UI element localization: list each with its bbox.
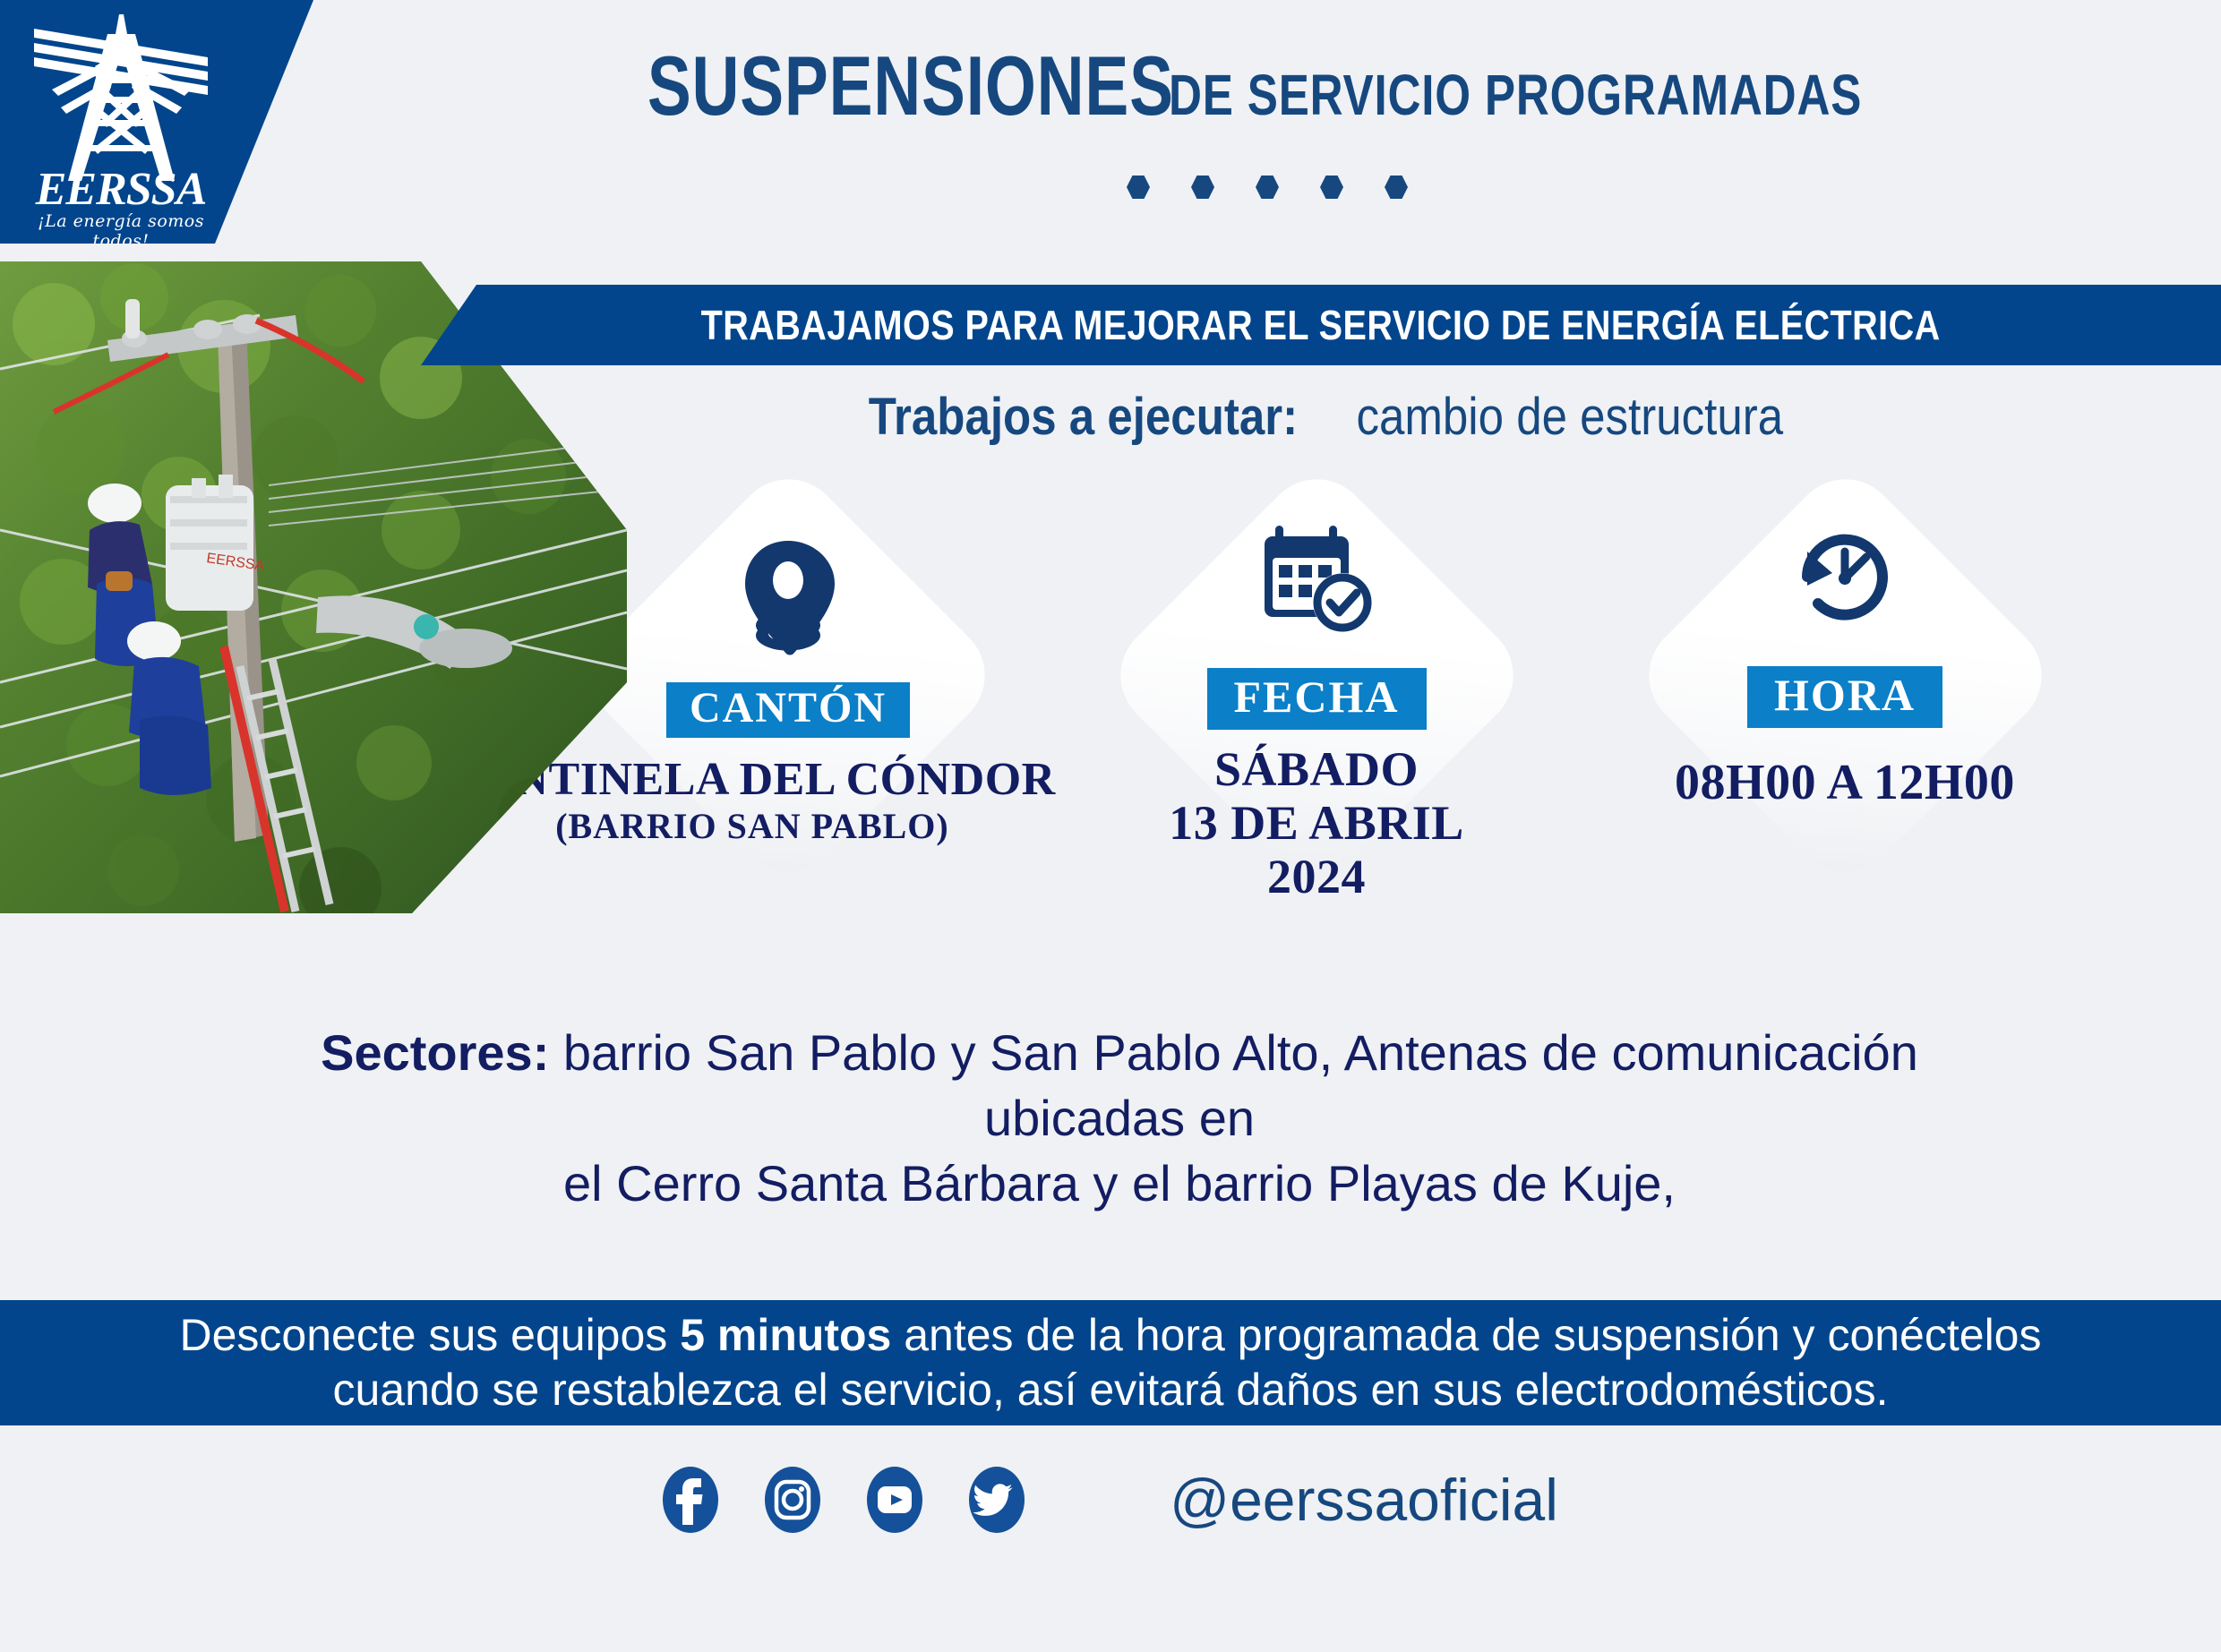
logo-panel: EERSSA ¡La energía somos todos! [0,0,313,244]
twitter-icon[interactable] [969,1466,1025,1534]
hexagon-dot-icon [1256,175,1279,199]
works-label: Trabajos a ejecutar: [868,387,1297,447]
notice-line-2: cuando se restablezca el servicio, así e… [332,1363,1888,1417]
notice-banner: Desconecte sus equipos 5 minutos antes d… [0,1300,2221,1425]
notice-text-c: antes de la hora programada de suspensió… [891,1310,2041,1360]
notice-highlight: 5 minutos [680,1310,891,1360]
eerssa-logo: EERSSA ¡La energía somos todos! [18,7,224,240]
fecha-day-month: 13 DE ABRIL [1169,796,1464,850]
hexagon-dot-icon [1127,175,1150,199]
title-subtitle: DE SERVICIO PROGRAMADAS [1169,62,1862,128]
card-badge-fecha: FECHA [1207,668,1427,730]
card-fecha: FECHA SÁBADO 13 DE ABRIL 2024 [1048,501,1585,1003]
canton-neighborhood: (BARRIO SAN PABLO) [412,807,1093,847]
hexagon-dot-icon [1385,175,1408,199]
calendar-check-icon [1254,518,1379,643]
card-badge-hora: HORA [1747,666,1942,728]
banner-text: TRABAJAMOS PARA MEJORAR EL SERVICIO DE E… [701,301,1941,349]
works-value: cambio de estructura [1356,387,1783,447]
social-bar: @eerssaoficial [0,1446,2221,1554]
notice-text-a: Desconecte sus equipos [180,1310,681,1360]
hexagon-dot-icon [1191,175,1214,199]
facebook-icon[interactable] [663,1466,718,1534]
hexagon-dot-icon [1320,175,1343,199]
card-hora: HORA 08H00 A 12H00 [1576,501,2114,1003]
banner-strip: TRABAJAMOS PARA MEJORAR EL SERVICIO DE E… [421,285,2221,365]
fecha-year: 2024 [1169,850,1464,903]
sectors-block: Sectores: barrio San Pablo y San Pablo A… [215,1021,2024,1216]
hora-range: 08H00 A 12H00 [1675,755,2015,811]
info-cards: CANTÓN CENTINELA DEL CÓNDOR (BARRIO SAN … [502,501,2221,1003]
logo-wordmark: EERSSA [18,167,224,213]
sectors-line2: el Cerro Santa Bárbara y el barrio Playa… [563,1155,1676,1211]
location-pin-icon [731,537,845,663]
page-title: SUSPENSIONESDE SERVICIO PROGRAMADAS [313,38,2221,134]
works-line: Trabajos a ejecutar: cambio de estructur… [537,387,2114,447]
instagram-icon[interactable] [765,1466,820,1534]
transmission-tower-icon [18,7,224,186]
youtube-icon[interactable] [867,1466,922,1534]
card-value-fecha: SÁBADO 13 DE ABRIL 2024 [1169,742,1464,904]
notice-line-1: Desconecte sus equipos 5 minutos antes d… [180,1308,2042,1363]
title-main: SUSPENSIONES [647,38,1174,134]
clock-history-icon [1784,514,1906,639]
sectors-label: Sectores: [321,1024,549,1081]
card-value-hora: 08H00 A 12H00 [1675,755,2015,811]
card-badge-canton: CANTÓN [666,682,910,738]
logo-slogan: ¡La energía somos todos! [18,211,224,251]
title-divider-dots [313,175,2221,203]
fecha-weekday: SÁBADO [1169,742,1464,796]
sectors-line1: barrio San Pablo y San Pablo Alto, Anten… [549,1024,1918,1146]
social-handle: @eerssaoficial [1170,1466,1558,1534]
